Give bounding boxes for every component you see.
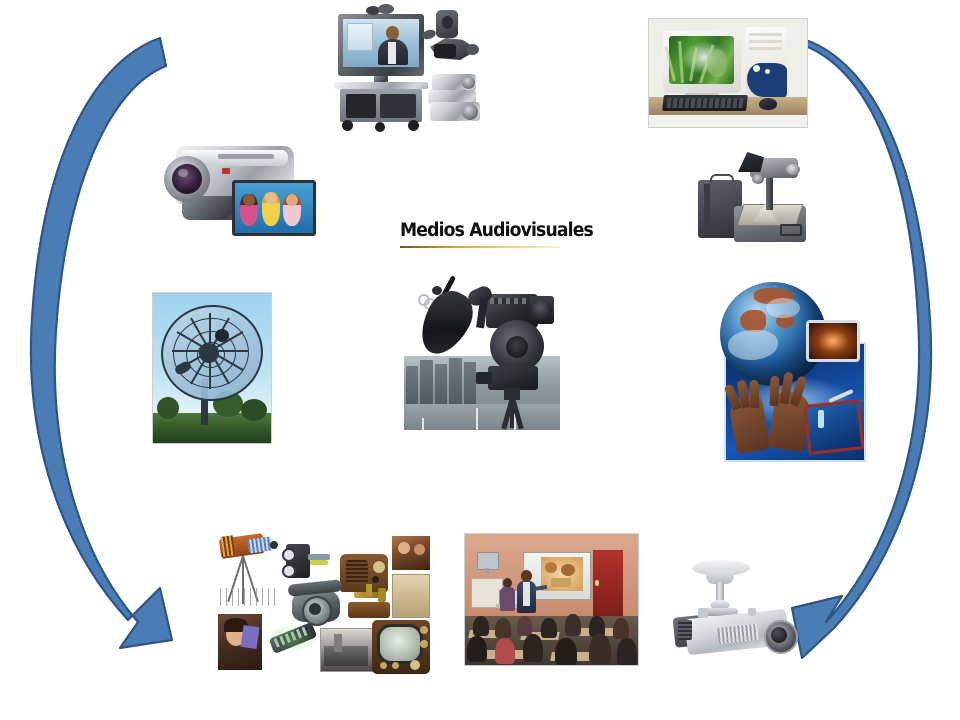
- camcorder-image: [158, 136, 320, 236]
- tablet-thumbnail: [804, 399, 865, 455]
- satellite-dish-image: [152, 292, 272, 444]
- left-cycle-arrow: [31, 38, 172, 648]
- desktop-computer-image: [648, 18, 808, 128]
- global-digital-media-image: [706, 280, 868, 462]
- vintage-media-collage-image: [214, 530, 430, 678]
- title-underline: [400, 246, 560, 249]
- videoconference-cart-image: [330, 2, 488, 132]
- diagram-title: Medios Audiovisuales: [400, 222, 570, 248]
- monitor-thumbnail: [806, 320, 860, 362]
- overhead-projector-image: [694, 144, 812, 252]
- diagram-canvas: Medios Audiovisuales: [0, 0, 960, 720]
- ceiling-data-projector-image: [664, 558, 799, 664]
- lnb-feed-icon: [215, 329, 229, 342]
- microphone-film-camera-image: [404, 268, 560, 430]
- people-photo-thumbnail: [392, 536, 430, 570]
- classroom-projection-image: [464, 533, 639, 666]
- page-title: Medios Audiovisuales: [400, 222, 558, 241]
- parchment-document: [392, 574, 430, 618]
